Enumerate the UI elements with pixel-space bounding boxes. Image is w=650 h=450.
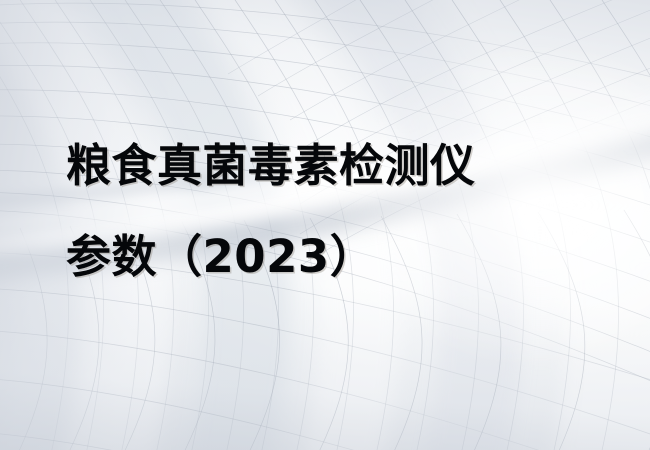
title-banner: 粮食真菌毒素检测仪 参数（2023） (0, 0, 650, 450)
title-line-1: 粮食真菌毒素检测仪 (66, 140, 586, 192)
title-line-2: 参数（2023） (66, 231, 586, 283)
page-title: 粮食真菌毒素检测仪 参数（2023） (66, 140, 586, 283)
